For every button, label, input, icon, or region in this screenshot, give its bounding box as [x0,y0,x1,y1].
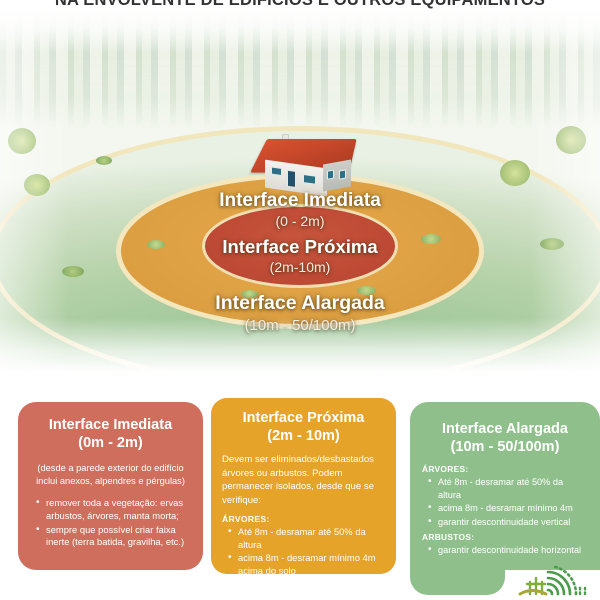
card-proxima-arvores-heading: ÁRVORES: [222,514,385,524]
card-alargada-arvores-bullets: Até 8m - desramar até 50% da altura acim… [422,476,588,528]
door-icon [287,170,296,188]
zone-label-alargada-range: (10m - 50/100m) [0,317,600,334]
card-imediata-title: Interface Imediata (0m - 2m) [30,416,191,452]
window-icon [339,169,346,179]
card-proxima-title: Interface Próxima (2m - 10m) [222,409,385,445]
list-item: acima 8m - desramar mínimo 4m [422,502,588,514]
house-side-wall [323,160,351,192]
card-alargada-title: Interface Alargada (10m - 50/100m) [422,420,588,456]
card-interface-proxima: Interface Próxima (2m - 10m) Devem ser e… [211,398,396,574]
card-imediata-note: (desde a parede exterior do edifício inc… [32,462,189,487]
card-alargada-arvores-heading: ÁRVORES: [422,464,588,474]
card-proxima-intro: Devem ser eliminados/desbastados árvores… [222,453,385,507]
card-proxima-title-line2: (2m - 10m) [222,427,385,445]
card-proxima-title-line1: Interface Próxima [243,410,365,426]
agif-logo [506,554,592,598]
window-icon [271,166,282,176]
card-alargada-title-line1: Interface Alargada [442,421,568,437]
window-icon [327,170,334,180]
card-alargada-arbustos-heading: ARBUSTOS: [422,532,588,542]
card-interface-alargada: Interface Alargada (10m - 50/100m) ÁRVOR… [410,402,600,570]
shrub-icon [96,156,112,165]
card-imediata-bullets: remover toda a vegetação: ervas arbustos… [30,497,191,549]
card-alargada-title-line2: (10m - 50/100m) [422,438,588,456]
zone-label-imediata: Interface Imediata (0 - 2m) [0,190,600,229]
list-item: distância entre copas - 4m [222,579,385,592]
zone-label-proxima: Interface Próxima (2m-10m) [0,236,600,275]
list-item: garantir descontinuidade vertical [222,592,385,600]
zone-label-proxima-name: Interface Próxima [0,236,600,258]
infographic-page: NA ENVOLVENTE DE EDIFÍCIOS E OUTROS EQUI… [0,0,600,600]
list-item: Até 8m - desramar até 50% da altura [422,476,588,501]
zone-label-alargada-name: Interface Alargada [0,292,600,315]
card-imediata-title-line2: (0m - 2m) [30,434,191,452]
card-interface-imediata: Interface Imediata (0m - 2m) (desde a pa… [18,402,203,570]
zone-label-imediata-range: (0 - 2m) [0,213,600,229]
zone-label-proxima-range: (2m-10m) [0,259,600,275]
list-item: Até 8m - desramar até 50% da altura [222,526,385,551]
zone-label-imediata-name: Interface Imediata [0,190,600,212]
agif-logo-icon [506,554,592,598]
window-icon [303,174,316,185]
list-item: acima 8m - desramar mínimo 4m acima do s… [222,552,385,577]
list-item: garantir descontinuidade vertical [422,516,588,528]
top-haze-overlay [0,8,600,54]
list-item: sempre que possível criar faixa inerte (… [30,524,191,549]
card-imediata-title-line1: Interface Imediata [49,417,172,433]
zone-label-alargada: Interface Alargada (10m - 50/100m) [0,292,600,334]
card-proxima-arvores-bullets: Até 8m - desramar até 50% da altura acim… [222,526,385,600]
page-title: NA ENVOLVENTE DE EDIFÍCIOS E OUTROS EQUI… [0,0,600,10]
list-item: remover toda a vegetação: ervas arbustos… [30,497,191,522]
tree-icon [500,160,530,186]
